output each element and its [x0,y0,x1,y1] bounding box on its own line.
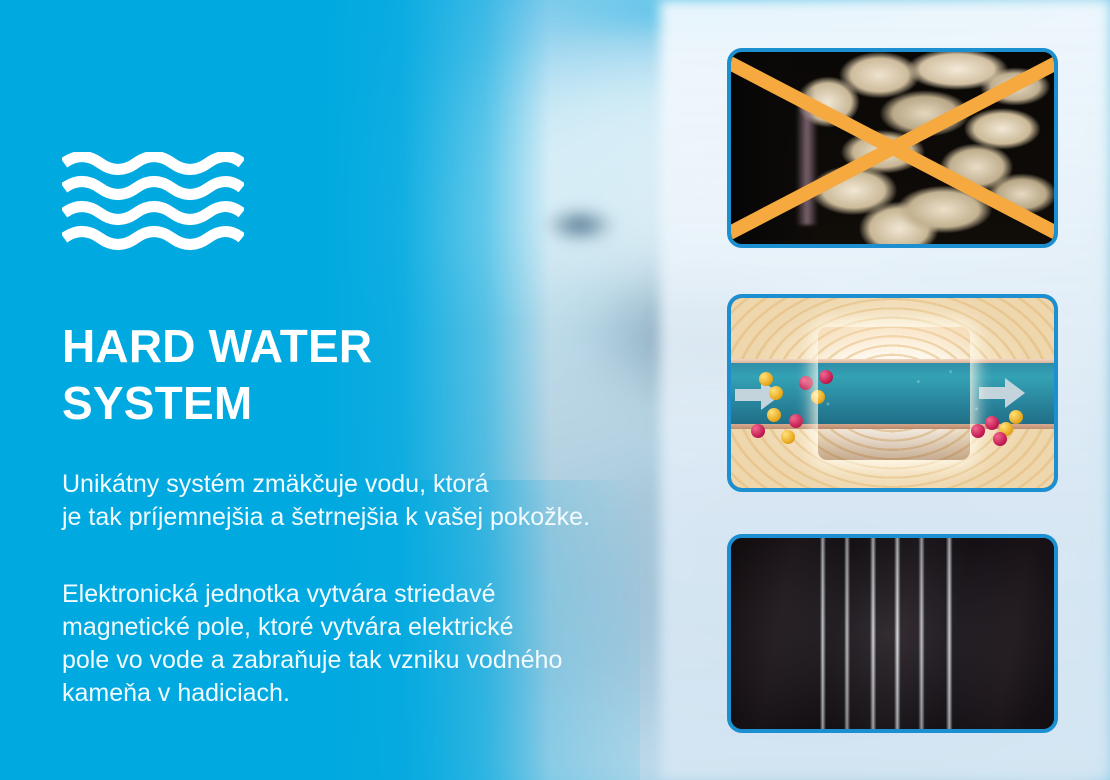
paragraph-benefit: Unikátny systém zmäkčuje vodu, ktorá je … [62,468,702,534]
mineral-ion [993,432,1007,446]
paragraph-technology-line-2: magnetické pole, ktoré vytvára elektrick… [62,611,702,644]
paragraph-benefit-line-2: je tak príjemnejšia a šetrnejšia k vašej… [62,501,702,534]
mineral-ion [781,430,795,444]
mineral-ion [971,424,985,438]
limescale-buildup-panel [727,48,1058,248]
copper-coil [818,327,970,460]
mineral-ion [985,416,999,430]
headline-line-2: SYSTEM [62,375,622,432]
paragraph-technology-line-4: kameňa v hadiciach. [62,677,702,710]
x-mark-icon [731,52,1054,244]
mineral-ion [769,386,783,400]
flow-arrow-right-icon [979,378,1025,408]
clean-pipe-panel [727,534,1058,733]
infographic-banner: HARD WATER SYSTEM Unikátny systém zmäkču… [0,0,1110,780]
page-title: HARD WATER SYSTEM [62,318,622,432]
magnetic-coil-diagram-panel [727,294,1058,492]
left-content-column: HARD WATER SYSTEM Unikátny systém zmäkču… [0,0,700,780]
paragraph-technology-line-3: pole vo vode a zabraňuje tak vzniku vodn… [62,644,702,677]
mineral-ion [767,408,781,422]
mineral-ion [751,424,765,438]
mineral-ion [789,414,803,428]
clean-pipe-photo [731,538,1054,729]
paragraph-technology-line-1: Elektronická jednotka vytvára striedavé [62,578,702,611]
mineral-ion [759,372,773,386]
limescale-photo [731,52,1054,244]
water-waves-icon [62,152,244,252]
paragraph-technology: Elektronická jednotka vytvára striedavé … [62,578,702,710]
clean-pipe-vignette [731,538,1054,729]
headline-line-1: HARD WATER [62,320,372,372]
mineral-ion [799,376,813,390]
mineral-ion [1009,410,1023,424]
paragraph-benefit-line-1: Unikátny systém zmäkčuje vodu, ktorá [62,468,702,501]
coil-diagram [731,298,1054,488]
